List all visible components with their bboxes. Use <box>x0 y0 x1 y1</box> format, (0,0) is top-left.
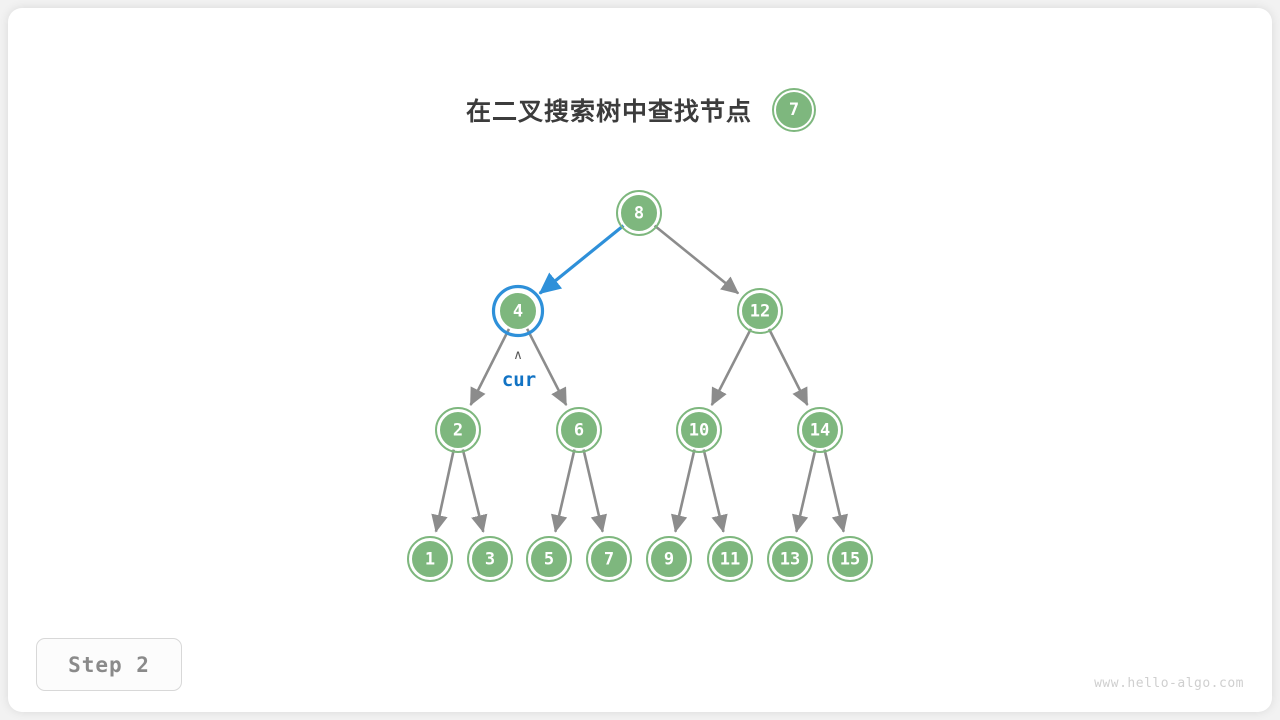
tree-node[interactable]: 3 <box>468 537 512 581</box>
node-value-label: 4 <box>513 302 523 322</box>
node-value-label: 5 <box>544 550 554 570</box>
tree-edge <box>704 449 724 531</box>
tree-edge <box>527 329 566 405</box>
cur-pointer-label: cur <box>502 369 536 391</box>
node-value-label: 14 <box>810 421 830 441</box>
binary-search-tree: 841226101413579111315 ∧cur <box>8 8 1272 712</box>
node-value-label: 6 <box>574 421 584 441</box>
tree-node[interactable]: 8 <box>617 191 661 235</box>
tree-node[interactable]: 9 <box>647 537 691 581</box>
tree-edge <box>712 329 751 405</box>
node-value-label: 12 <box>750 302 770 322</box>
cur-caret-icon: ∧ <box>513 348 523 363</box>
tree-node[interactable]: 2 <box>436 408 480 452</box>
node-value-label: 10 <box>689 421 709 441</box>
step-badge: Step 2 <box>36 638 182 691</box>
tree-node[interactable]: 6 <box>557 408 601 452</box>
tree-node[interactable]: 12 <box>738 289 782 333</box>
tree-edge <box>796 449 815 531</box>
node-value-label: 1 <box>425 550 435 570</box>
cur-pointer-layer: ∧cur <box>502 348 536 391</box>
tree-edge <box>825 449 844 531</box>
tree-edge <box>769 329 807 405</box>
tree-node[interactable]: 1 <box>408 537 452 581</box>
tree-edge <box>675 449 694 531</box>
diagram-card: 在二叉搜索树中查找节点 7 841226101413579111315 ∧cur… <box>8 8 1272 712</box>
tree-node[interactable]: 15 <box>828 537 872 581</box>
node-value-label: 8 <box>634 204 644 224</box>
tree-node[interactable]: 5 <box>527 537 571 581</box>
tree-edge <box>555 449 574 531</box>
node-value-label: 7 <box>604 550 614 570</box>
tree-edge <box>471 329 509 405</box>
tree-node-layer: 841226101413579111315 <box>408 191 872 581</box>
node-value-label: 15 <box>840 550 860 570</box>
tree-node[interactable]: 10 <box>677 408 721 452</box>
watermark: www.hello-algo.com <box>1094 676 1244 691</box>
tree-edge <box>436 450 454 532</box>
tree-edge <box>463 449 483 531</box>
node-value-label: 11 <box>720 550 740 570</box>
tree-edge <box>540 226 624 294</box>
tree-edge <box>584 449 603 531</box>
node-value-label: 13 <box>780 550 800 570</box>
tree-node[interactable]: 11 <box>708 537 752 581</box>
node-value-label: 2 <box>453 421 463 441</box>
tree-node[interactable]: 4 <box>494 287 543 336</box>
screenshot-stage: 在二叉搜索树中查找节点 7 841226101413579111315 ∧cur… <box>0 0 1280 720</box>
tree-node[interactable]: 13 <box>768 537 812 581</box>
node-value-label: 3 <box>485 550 495 570</box>
tree-edge-layer <box>436 226 844 532</box>
tree-edge <box>655 226 739 294</box>
node-value-label: 9 <box>664 550 674 570</box>
tree-node[interactable]: 14 <box>798 408 842 452</box>
tree-node[interactable]: 7 <box>587 537 631 581</box>
